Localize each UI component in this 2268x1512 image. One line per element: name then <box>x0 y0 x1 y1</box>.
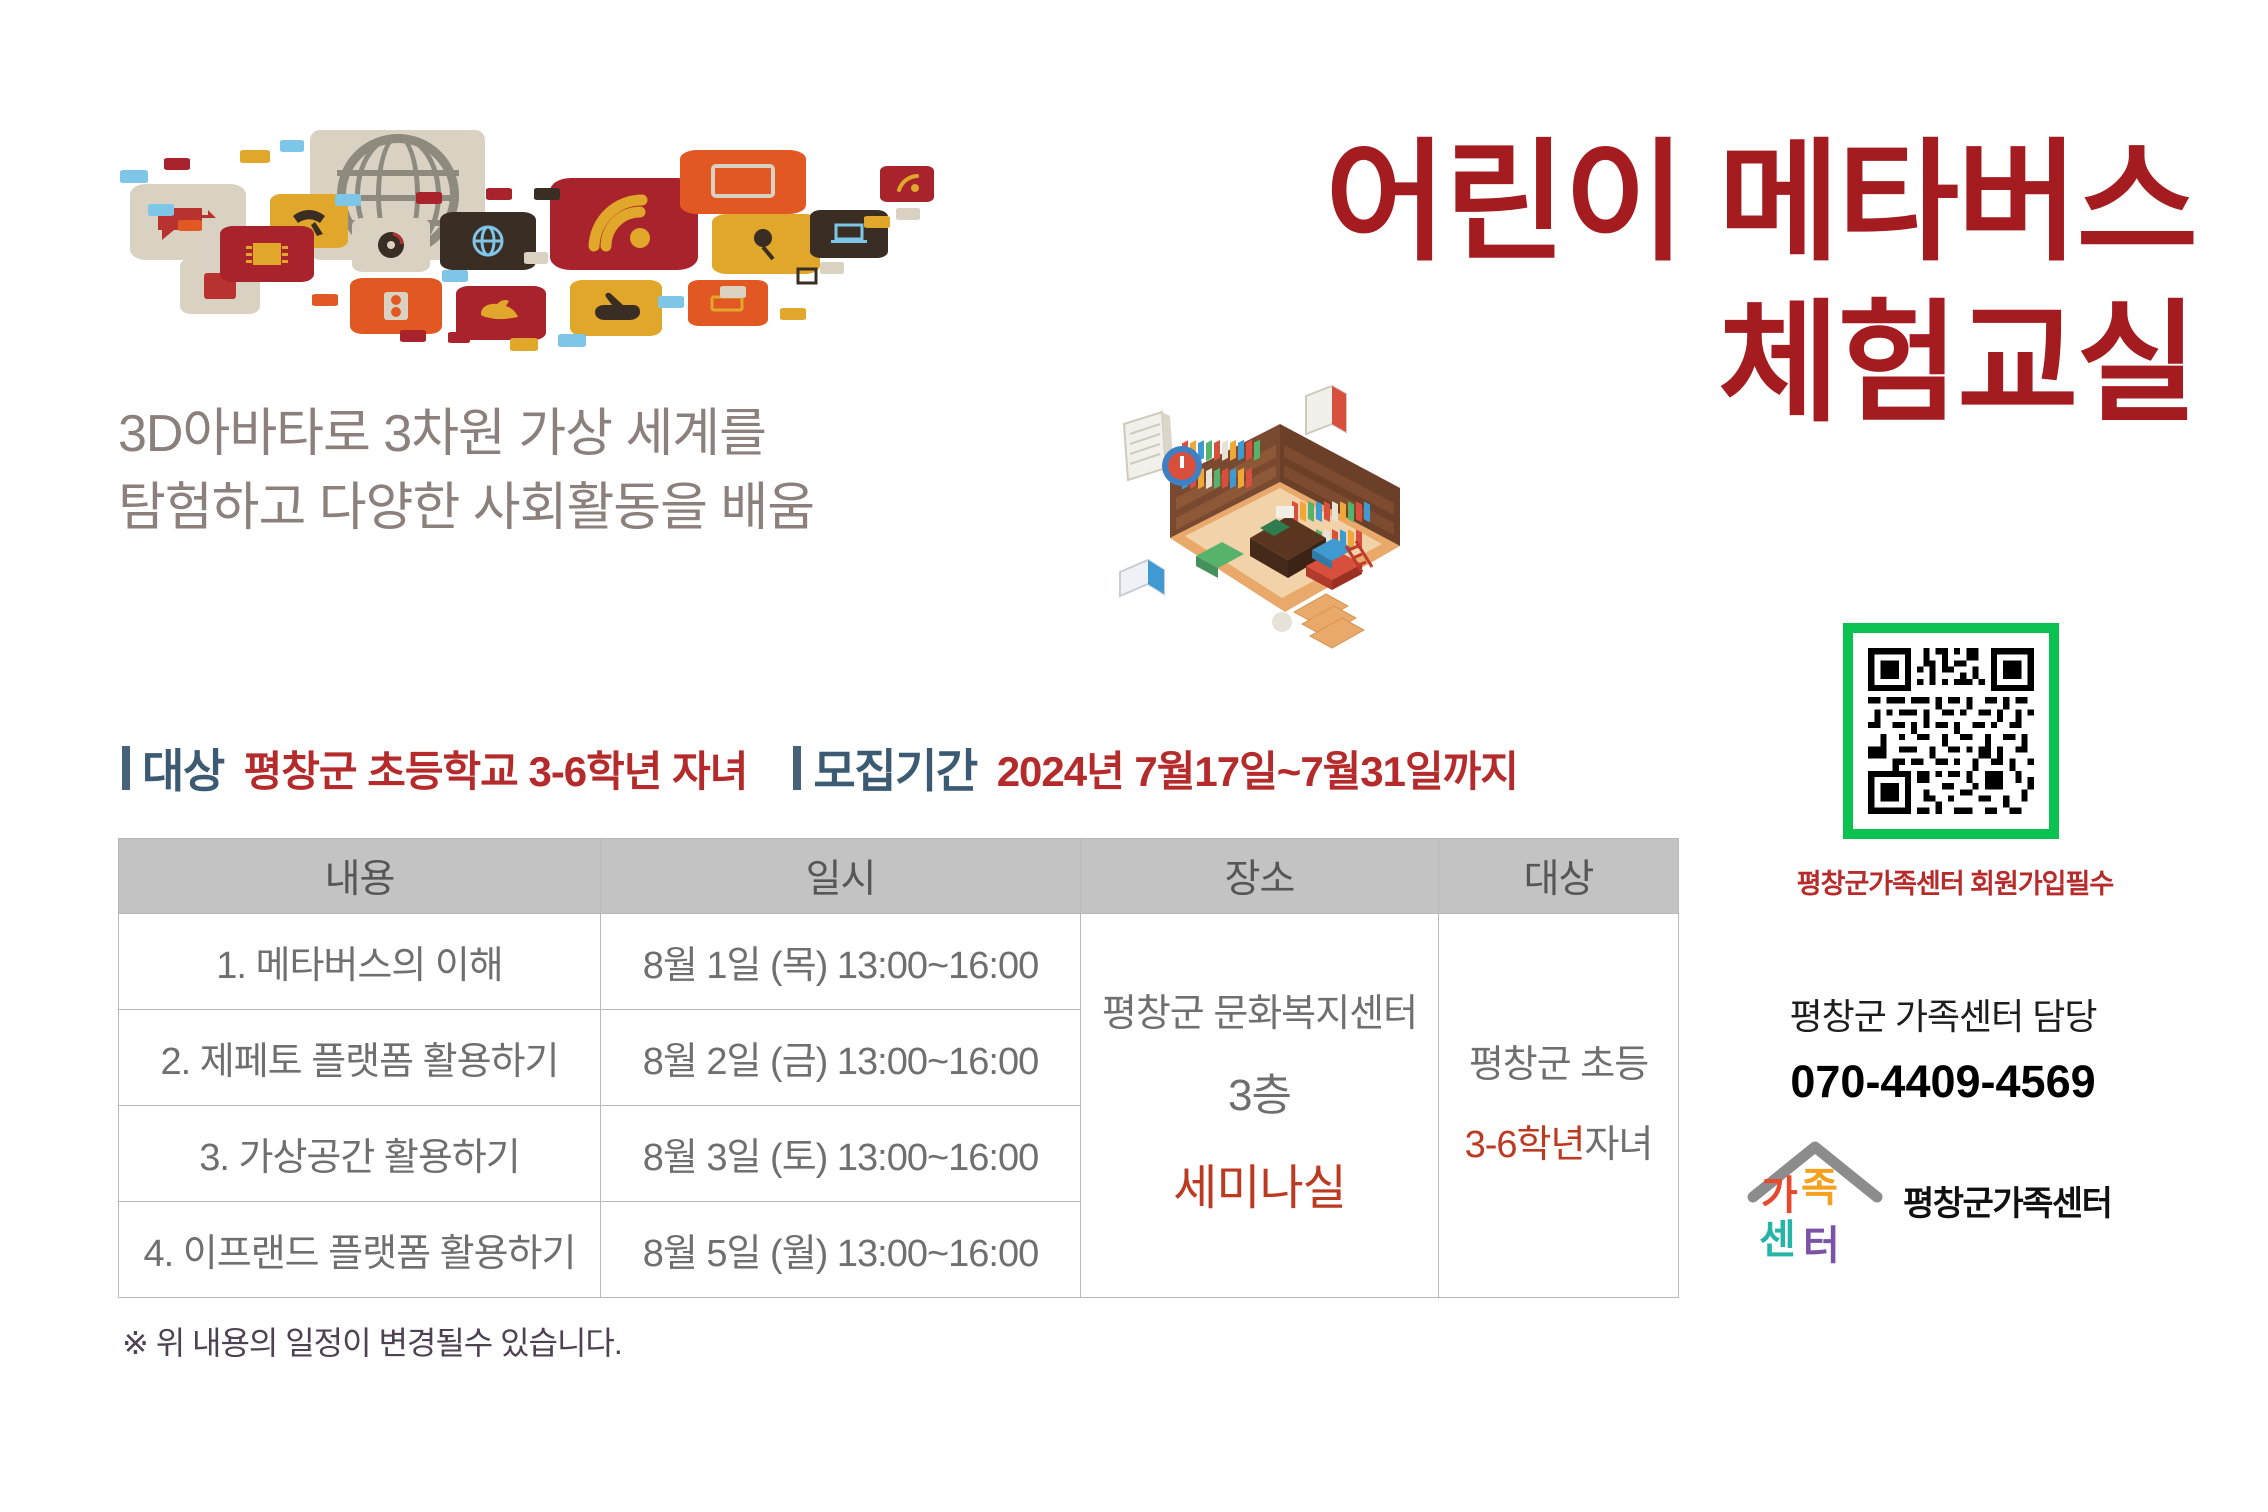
qr-code[interactable] <box>1843 623 2059 839</box>
header-content: 내용 <box>119 839 601 914</box>
cell-datetime: 8월 2일 (금) 13:00~16:00 <box>601 1010 1081 1106</box>
title-line-1: 어린이 메타버스 <box>1325 122 2196 283</box>
chip-decor <box>164 158 190 170</box>
table-row: 1. 메타버스의 이해 8월 1일 (목) 13:00~16:00 평창군 문화… <box>119 914 1679 1010</box>
tile-monitor-icon <box>680 150 806 214</box>
place-line-2: 3층 <box>1081 1062 1438 1130</box>
info-period-value: 2024년 7월17일~7월31일까지 <box>997 738 1518 799</box>
contact-phone: 070-4409-4569 <box>1728 1056 2158 1108</box>
tile-frame-icon <box>792 264 822 288</box>
target-line-1: 평창군 초등 <box>1439 1026 1678 1106</box>
brand-block: 가 족 센 터 평창군가족센터 <box>1745 1135 2111 1265</box>
contact-org: 평창군 가족센터 담당 <box>1728 988 2158 1040</box>
chip-decor <box>178 220 202 231</box>
svg-text:족: 족 <box>1801 1166 1838 1210</box>
family-center-logo: 가 족 센 터 <box>1745 1135 1885 1265</box>
chip-decor <box>312 294 338 306</box>
chip-decor <box>534 188 560 200</box>
info-target-value: 평창군 초등학교 3-6학년 자녀 <box>244 738 748 799</box>
chip-decor <box>780 308 806 320</box>
subtitle-line-2: 탐험하고 다양한 사회활동을 배움 <box>118 472 814 546</box>
table-header-row: 내용 일시 장소 대상 <box>119 839 1679 914</box>
cell-content: 3. 가상공간 활용하기 <box>119 1106 601 1202</box>
chip-decor <box>280 140 304 152</box>
target-suffix: 자녀 <box>1584 1124 1652 1166</box>
svg-text:터: 터 <box>1803 1224 1840 1265</box>
footnote: ※ 위 내용의 일정이 변경될수 있습니다. <box>122 1318 622 1364</box>
chip-decor <box>448 332 470 343</box>
chip-decor <box>558 334 586 347</box>
brand-name: 평창군가족센터 <box>1903 1176 2111 1225</box>
cell-content: 4. 이프랜드 플랫폼 활용하기 <box>119 1202 601 1298</box>
qr-note: 평창군가족센터 회원가입필수 <box>1775 862 2135 901</box>
cell-datetime: 8월 1일 (목) 13:00~16:00 <box>601 914 1081 1010</box>
chip-decor <box>820 262 844 274</box>
chip-decor <box>335 194 361 206</box>
title-line-2: 체험교실 <box>1325 283 2196 444</box>
place-line-3: 세미나실 <box>1081 1152 1438 1226</box>
tile-hand-icon <box>570 280 662 336</box>
qr-code-image <box>1862 642 2040 820</box>
chip-decor <box>510 338 538 351</box>
chip-decor <box>120 170 148 183</box>
chip-decor <box>240 150 270 163</box>
cell-target: 평창군 초등 3-6학년자녀 <box>1439 914 1679 1298</box>
cell-datetime: 8월 5일 (월) 13:00~16:00 <box>601 1202 1081 1298</box>
tick-marker-icon <box>793 746 801 790</box>
chip-decor <box>416 192 442 204</box>
target-line-2: 3-6학년자녀 <box>1439 1106 1678 1186</box>
cell-datetime: 8월 3일 (토) 13:00~16:00 <box>601 1106 1081 1202</box>
tile-wifi-small-icon <box>880 166 934 202</box>
tick-marker-icon <box>122 746 130 790</box>
chip-decor <box>400 330 426 342</box>
info-target-key: 대상 <box>142 735 224 801</box>
chip-decor <box>148 204 174 216</box>
info-period-group: 모집기간 2024년 7월17일~7월31일까지 <box>793 735 1518 801</box>
svg-text:가: 가 <box>1761 1174 1798 1218</box>
tile-chip-icon <box>220 226 314 282</box>
chip-decor <box>442 270 468 282</box>
tile-cassette-icon <box>350 278 442 334</box>
cell-content: 1. 메타버스의 이해 <box>119 914 601 1010</box>
info-period-key: 모집기간 <box>813 735 976 801</box>
info-target-group: 대상 평창군 초등학교 3-6학년 자녀 <box>122 735 747 801</box>
isometric-library-illustration <box>1110 360 1450 650</box>
header-datetime: 일시 <box>601 839 1081 914</box>
poster-subtitle: 3D아바타로 3차원 가상 세계를 탐험하고 다양한 사회활동을 배움 <box>118 398 814 546</box>
schedule-table: 내용 일시 장소 대상 1. 메타버스의 이해 8월 1일 (목) 13:00~… <box>118 838 1679 1298</box>
chip-decor <box>658 296 684 308</box>
tile-wifi-icon <box>550 178 698 270</box>
subtitle-line-1: 3D아바타로 3차원 가상 세계를 <box>118 398 814 472</box>
header-place: 장소 <box>1081 839 1439 914</box>
tile-record-icon <box>352 218 430 272</box>
contact-block: 평창군 가족센터 담당 070-4409-4569 <box>1728 988 2158 1108</box>
header-target: 대상 <box>1439 839 1679 914</box>
chip-decor <box>524 252 548 264</box>
chip-decor <box>486 188 512 200</box>
svg-text:센: 센 <box>1759 1218 1796 1262</box>
chip-decor <box>896 208 920 220</box>
chip-decor <box>864 216 890 228</box>
technology-icon-cloud <box>120 130 870 350</box>
target-grade: 3-6학년 <box>1465 1124 1585 1166</box>
poster-title: 어린이 메타버스 체험교실 <box>1325 122 2196 444</box>
tile-globe-small-icon <box>440 212 536 270</box>
info-bar: 대상 평창군 초등학교 3-6학년 자녀 모집기간 2024년 7월17일~7월… <box>122 735 1518 801</box>
chip-decor <box>720 286 746 298</box>
cell-content: 2. 제페토 플랫폼 활용하기 <box>119 1010 601 1106</box>
place-line-1: 평창군 문화복지센터 <box>1102 993 1417 1035</box>
cell-place: 평창군 문화복지센터 3층 세미나실 <box>1081 914 1439 1298</box>
